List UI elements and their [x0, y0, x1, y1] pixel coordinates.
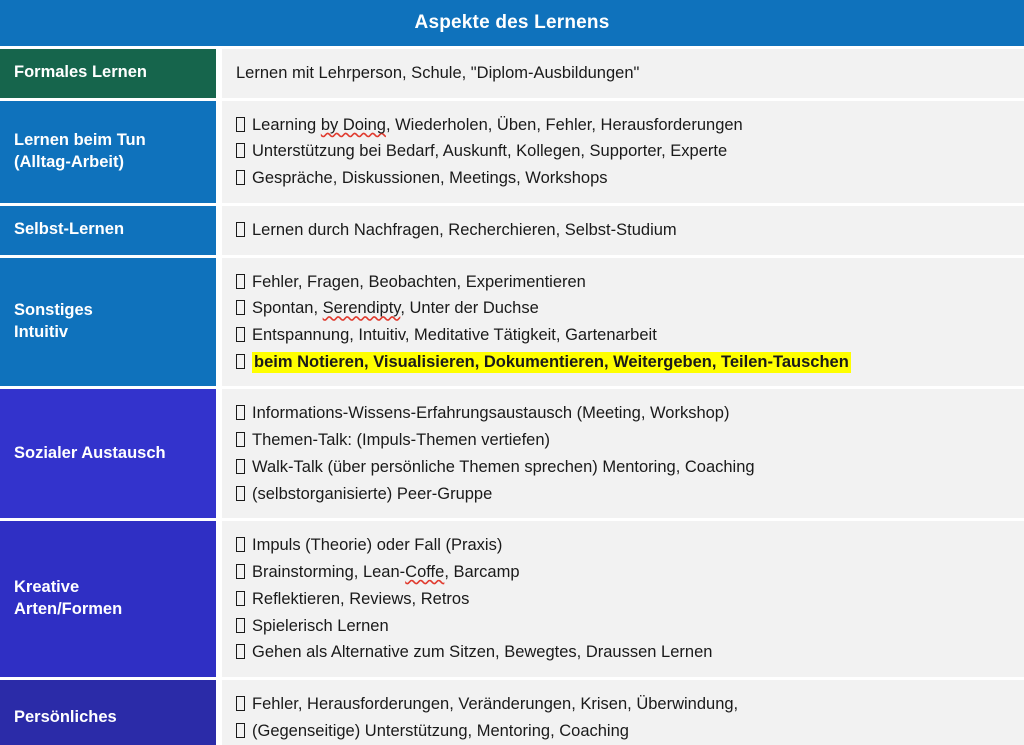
tofu-bullet-icon [236, 405, 245, 420]
tofu-bullet-icon [236, 618, 245, 633]
list-item-text: Gehen als Alternative zum Sitzen, Bewegt… [252, 643, 712, 661]
list-item-text: beim Notieren, Visualisieren, Dokumentie… [252, 352, 851, 373]
list-item: Impuls (Theorie) oder Fall (Praxis) [236, 532, 1014, 559]
list-item: Gespräche, Diskussionen, Meetings, Works… [236, 165, 1014, 192]
tofu-bullet-icon [236, 696, 245, 711]
table-row: Formales LernenLernen mit Lehrperson, Sc… [0, 49, 1024, 98]
tofu-bullet-icon [236, 274, 245, 289]
list-item: Themen-Talk: (Impuls-Themen vertiefen) [236, 427, 1014, 454]
list-item: (Gegenseitige) Unterstützung, Mentoring,… [236, 718, 1014, 745]
list-item-text: Learning by Doing, Wiederholen, Üben, Fe… [252, 116, 743, 134]
table-row: Sozialer AustauschInformations-Wissens-E… [0, 389, 1024, 518]
list-item: Fehler, Fragen, Beobachten, Experimentie… [236, 269, 1014, 296]
category-label: Lernen beim Tun (Alltag-Arbeit) [0, 101, 216, 203]
items-cell: Lernen mit Lehrperson, Schule, "Diplom-A… [222, 49, 1024, 98]
list-item: Lernen mit Lehrperson, Schule, "Diplom-A… [236, 60, 1014, 87]
list-item: Learning by Doing, Wiederholen, Üben, Fe… [236, 112, 1014, 139]
list-item: Walk-Talk (über persönliche Themen sprec… [236, 454, 1014, 481]
tofu-bullet-icon [236, 300, 245, 315]
list-item-text: Impuls (Theorie) oder Fall (Praxis) [252, 536, 502, 554]
category-label: Kreative Arten/Formen [0, 521, 216, 677]
list-item-text: Themen-Talk: (Impuls-Themen vertiefen) [252, 431, 550, 449]
list-item-text: Unterstützung bei Bedarf, Auskunft, Koll… [252, 142, 727, 160]
list-item: Spielerisch Lernen [236, 613, 1014, 640]
table-row: PersönlichesFehler, Herausforderungen, V… [0, 680, 1024, 745]
table-row: Sonstiges IntuitivFehler, Fragen, Beobac… [0, 258, 1024, 387]
list-item: Informations-Wissens-Erfahrungsaustausch… [236, 400, 1014, 427]
table-row: Kreative Arten/FormenImpuls (Theorie) od… [0, 521, 1024, 677]
tofu-bullet-icon [236, 564, 245, 579]
tofu-bullet-icon [236, 644, 245, 659]
list-item: Fehler, Herausforderungen, Veränderungen… [236, 691, 1014, 718]
list-item-text: Fehler, Fragen, Beobachten, Experimentie… [252, 273, 586, 291]
tofu-bullet-icon [236, 222, 245, 237]
items-cell: Fehler, Herausforderungen, Veränderungen… [222, 680, 1024, 745]
list-item-text: (Gegenseitige) Unterstützung, Mentoring,… [252, 722, 629, 740]
list-item-text: Fehler, Herausforderungen, Veränderungen… [252, 695, 738, 713]
list-item-text: Walk-Talk (über persönliche Themen sprec… [252, 458, 755, 476]
list-item: Entspannung, Intuitiv, Meditative Tätigk… [236, 322, 1014, 349]
list-item: beim Notieren, Visualisieren, Dokumentie… [236, 349, 1014, 376]
learning-aspects-table-page: Aspekte des Lernens Formales LernenLerne… [0, 0, 1024, 745]
page-title-text: Aspekte des Lernens [415, 12, 610, 34]
category-label: Sozialer Austausch [0, 389, 216, 518]
tofu-bullet-icon [236, 537, 245, 552]
tofu-bullet-icon [236, 170, 245, 185]
category-label: Sonstiges Intuitiv [0, 258, 216, 387]
spellcheck-underline: Coffe [405, 563, 444, 581]
list-item-text: Informations-Wissens-Erfahrungsaustausch… [252, 404, 729, 422]
tofu-bullet-icon [236, 459, 245, 474]
tofu-bullet-icon [236, 143, 245, 158]
list-item: Spontan, Serendipty, Unter der Duchse [236, 295, 1014, 322]
list-item-text: (selbstorganisierte) Peer-Gruppe [252, 485, 492, 503]
list-item: Unterstützung bei Bedarf, Auskunft, Koll… [236, 138, 1014, 165]
table-row: Selbst-LernenLernen durch Nachfragen, Re… [0, 206, 1024, 255]
items-cell: Learning by Doing, Wiederholen, Üben, Fe… [222, 101, 1024, 203]
list-item-text: Brainstorming, Lean-Coffe, Barcamp [252, 563, 520, 581]
list-item-text: Spielerisch Lernen [252, 617, 389, 635]
tofu-bullet-icon [236, 432, 245, 447]
list-item-text: Reflektieren, Reviews, Retros [252, 590, 469, 608]
page-title: Aspekte des Lernens [0, 0, 1024, 46]
list-item: (selbstorganisierte) Peer-Gruppe [236, 481, 1014, 508]
list-item: Gehen als Alternative zum Sitzen, Bewegt… [236, 639, 1014, 666]
items-cell: Lernen durch Nachfragen, Recherchieren, … [222, 206, 1024, 255]
list-item: Reflektieren, Reviews, Retros [236, 586, 1014, 613]
category-label: Selbst-Lernen [0, 206, 216, 255]
spellcheck-underline: Serendipty [323, 299, 401, 317]
tofu-bullet-icon [236, 591, 245, 606]
list-item-text: Entspannung, Intuitiv, Meditative Tätigk… [252, 326, 657, 344]
spellcheck-underline: by Doing [321, 116, 386, 134]
list-item-text: Spontan, Serendipty, Unter der Duchse [252, 299, 539, 317]
table-row: Lernen beim Tun (Alltag-Arbeit)Learning … [0, 101, 1024, 203]
tofu-bullet-icon [236, 723, 245, 738]
items-cell: Impuls (Theorie) oder Fall (Praxis)Brain… [222, 521, 1024, 677]
list-item: Brainstorming, Lean-Coffe, Barcamp [236, 559, 1014, 586]
category-label: Formales Lernen [0, 49, 216, 98]
tofu-bullet-icon [236, 354, 245, 369]
list-item-text: Lernen durch Nachfragen, Recherchieren, … [252, 221, 677, 239]
aspects-table: Formales LernenLernen mit Lehrperson, Sc… [0, 49, 1024, 745]
tofu-bullet-icon [236, 327, 245, 342]
tofu-bullet-icon [236, 486, 245, 501]
list-item: Lernen durch Nachfragen, Recherchieren, … [236, 217, 1014, 244]
list-item-text: Lernen mit Lehrperson, Schule, "Diplom-A… [236, 64, 639, 82]
items-cell: Informations-Wissens-Erfahrungsaustausch… [222, 389, 1024, 518]
category-label: Persönliches [0, 680, 216, 745]
items-cell: Fehler, Fragen, Beobachten, Experimentie… [222, 258, 1024, 387]
tofu-bullet-icon [236, 117, 245, 132]
list-item-text: Gespräche, Diskussionen, Meetings, Works… [252, 169, 608, 187]
